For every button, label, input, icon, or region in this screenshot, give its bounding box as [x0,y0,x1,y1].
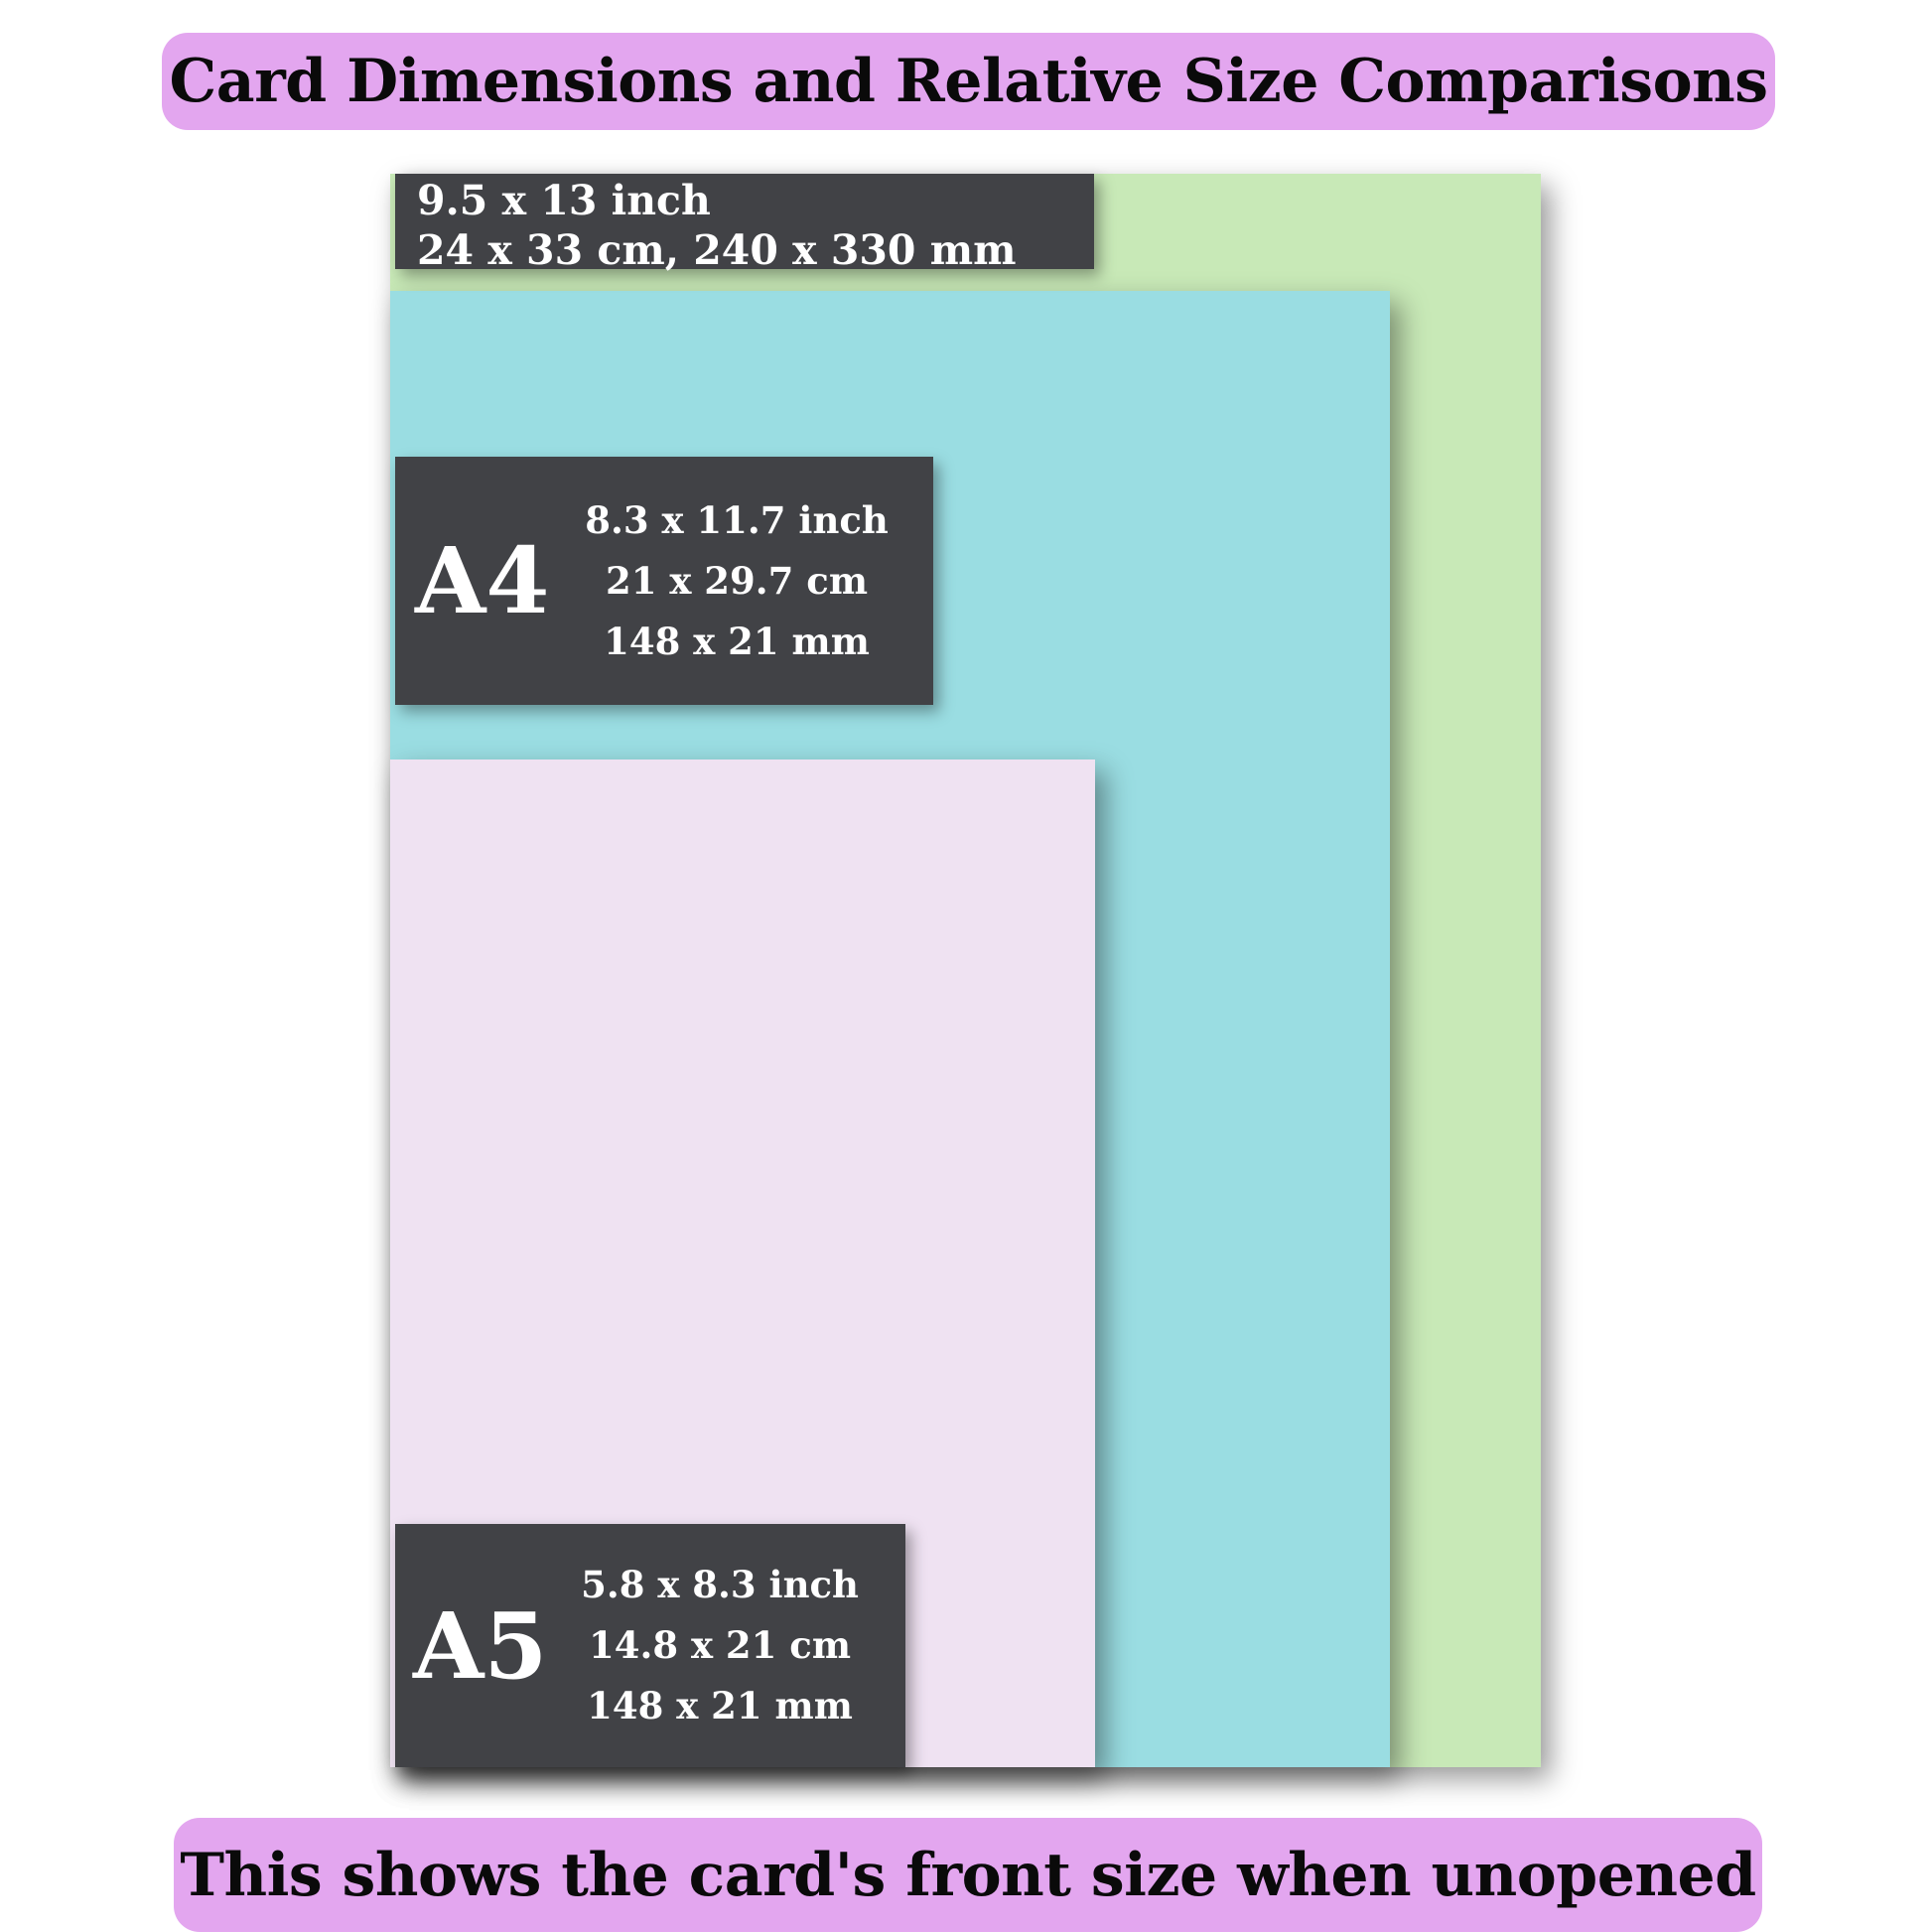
size-name-a4: A4 [415,535,554,626]
dimension-label-largest: 9.5 x 13 inch 24 x 33 cm, 240 x 330 mm [395,174,1094,269]
dimension-lines-a5: 5.8 x 8.3 inch 14.8 x 21 cm 148 x 21 mm [548,1555,892,1736]
footer-banner-text: This shows the card's front size when un… [180,1841,1755,1910]
dimension-metric-largest: 24 x 33 cm, 240 x 330 mm [417,225,1094,275]
dimension-inch-a4: 8.3 x 11.7 inch [585,490,889,551]
dimension-inch-largest: 9.5 x 13 inch [417,176,1094,225]
dimension-mm-a5: 148 x 21 mm [587,1676,853,1736]
dimension-label-a5: A5 5.8 x 8.3 inch 14.8 x 21 cm 148 x 21 … [395,1524,905,1767]
dimension-inch-a5: 5.8 x 8.3 inch [581,1555,859,1615]
footer-banner: This shows the card's front size when un… [174,1818,1762,1932]
dimension-mm-a4: 148 x 21 mm [604,612,870,672]
dimension-lines-a4: 8.3 x 11.7 inch 21 x 29.7 cm 148 x 21 mm [554,490,919,672]
size-name-a5: A5 [413,1600,548,1692]
title-banner-text: Card Dimensions and Relative Size Compar… [169,47,1767,116]
dimension-label-a4: A4 8.3 x 11.7 inch 21 x 29.7 cm 148 x 21… [395,457,933,705]
dimension-cm-a4: 21 x 29.7 cm [606,551,868,612]
title-banner: Card Dimensions and Relative Size Compar… [162,33,1775,130]
dimension-cm-a5: 14.8 x 21 cm [589,1615,851,1676]
